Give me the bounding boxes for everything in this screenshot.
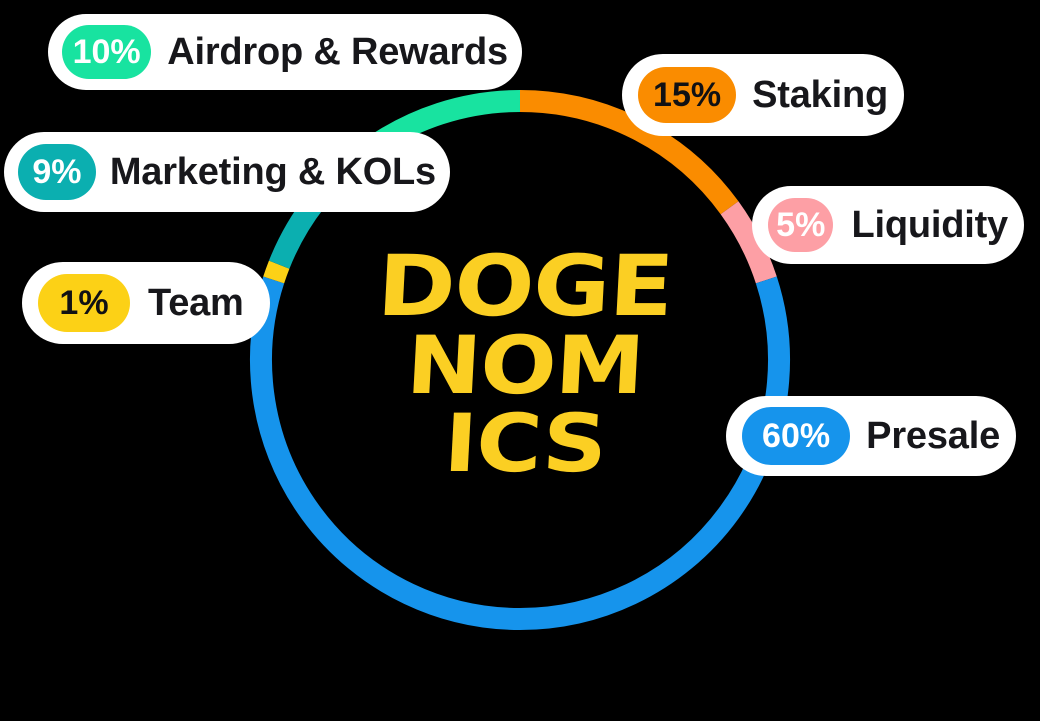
legend-pill-liquidity[interactable]: 5% Liquidity — [752, 186, 1024, 264]
legend-label-presale: Presale — [866, 415, 1000, 458]
legend-pill-staking[interactable]: 15% Staking — [622, 54, 904, 136]
legend-pill-presale[interactable]: 60% Presale — [726, 396, 1016, 476]
legend-label-liquidity: Liquidity — [851, 204, 1008, 247]
legend-badge-presale: 60% — [742, 407, 850, 465]
legend-pill-airdrop[interactable]: 10% Airdrop & Rewards — [48, 14, 522, 90]
legend-label-airdrop: Airdrop & Rewards — [167, 31, 508, 74]
legend-badge-team: 1% — [38, 274, 130, 332]
legend-badge-marketing: 9% — [18, 144, 96, 200]
legend-pill-team[interactable]: 1% Team — [22, 262, 270, 344]
legend-badge-liquidity: 5% — [768, 198, 833, 252]
legend-badge-staking: 15% — [638, 67, 736, 123]
legend-pill-marketing[interactable]: 9% Marketing & KOLs — [4, 132, 450, 212]
donut-segment-team[interactable] — [274, 265, 280, 280]
legend-label-staking: Staking — [752, 74, 888, 117]
legend-label-team: Team — [148, 282, 244, 325]
tokenomics-infographic: DOGE NOM ICS 10% Airdrop & Rewards 15% S… — [0, 0, 1040, 721]
donut-segment-presale[interactable] — [261, 280, 779, 619]
legend-badge-airdrop: 10% — [62, 25, 151, 79]
legend-label-marketing: Marketing & KOLs — [110, 151, 436, 194]
